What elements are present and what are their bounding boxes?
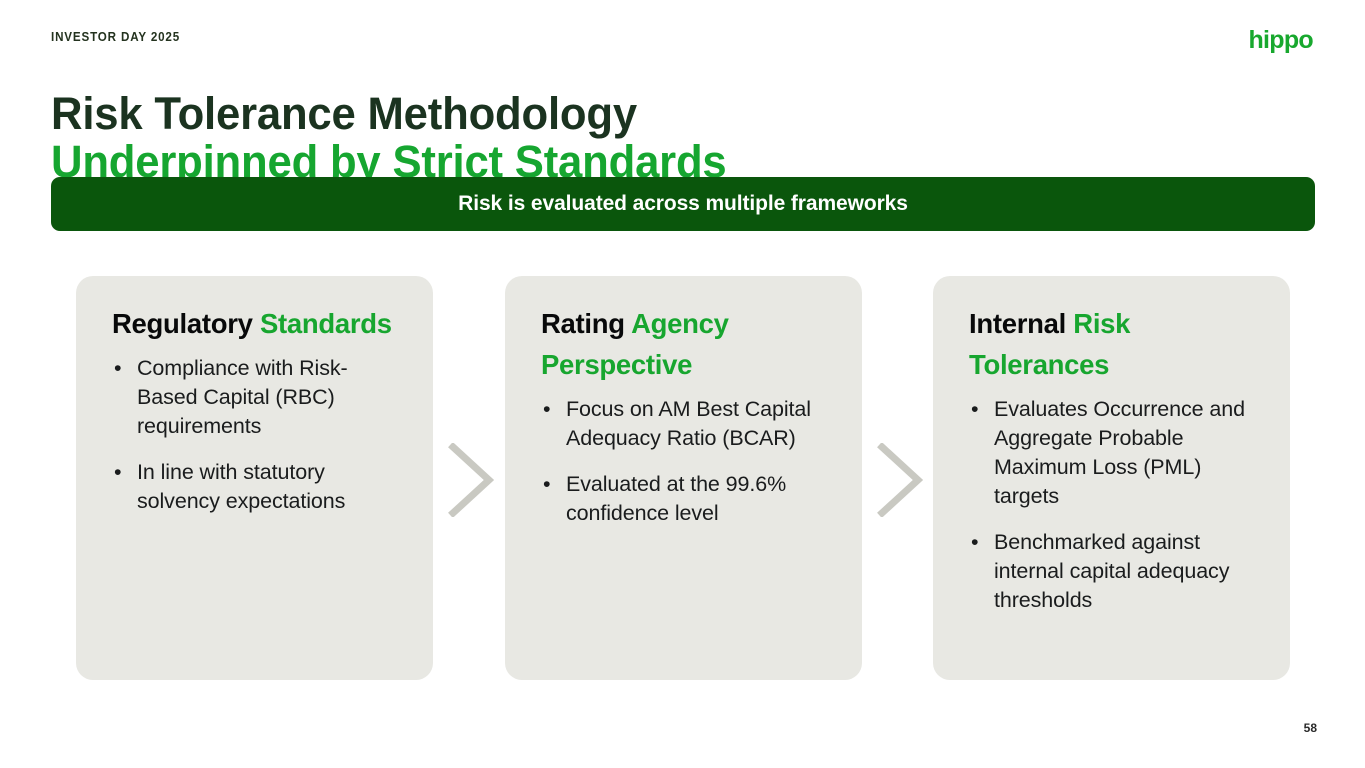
card-title-plain: Internal (969, 308, 1073, 339)
card-title-plain: Regulatory (112, 308, 260, 339)
card-regulatory-standards: Regulatory Standards Compliance with Ris… (76, 276, 433, 680)
card-title: Rating Agency Perspective (541, 303, 836, 385)
card-title-highlight: Standards (260, 308, 392, 339)
card-bullet-list: Evaluates Occurrence and Aggregate Proba… (969, 395, 1264, 615)
card-title: Internal Risk Tolerances (969, 303, 1264, 385)
list-item: In line with statutory solvency expectat… (112, 458, 407, 516)
list-item: Evaluates Occurrence and Aggregate Proba… (969, 395, 1264, 511)
card-rating-agency-perspective: Rating Agency Perspective Focus on AM Be… (505, 276, 862, 680)
frameworks-banner: Risk is evaluated across multiple framew… (51, 177, 1315, 231)
card-title: Regulatory Standards (112, 303, 407, 344)
list-item: Focus on AM Best Capital Adequacy Ratio … (541, 395, 836, 453)
eyebrow-label: INVESTOR DAY 2025 (51, 30, 180, 44)
chevron-right-icon (448, 443, 494, 517)
card-title-plain: Rating (541, 308, 631, 339)
page-number: 58 (1304, 721, 1317, 735)
card-internal-risk-tolerances: Internal Risk Tolerances Evaluates Occur… (933, 276, 1290, 680)
card-bullet-list: Compliance with Risk-Based Capital (RBC)… (112, 354, 407, 516)
frameworks-banner-text: Risk is evaluated across multiple framew… (458, 192, 908, 216)
list-item: Benchmarked against internal capital ade… (969, 528, 1264, 615)
card-bullet-list: Focus on AM Best Capital Adequacy Ratio … (541, 395, 836, 528)
list-item: Evaluated at the 99.6% confidence level (541, 470, 836, 528)
page-title-line-1: Risk Tolerance Methodology (51, 90, 924, 138)
page-title: Risk Tolerance Methodology Underpinned b… (51, 90, 924, 186)
chevron-right-icon (877, 443, 923, 517)
list-item: Compliance with Risk-Based Capital (RBC)… (112, 354, 407, 441)
hippo-logo: hippo (1248, 28, 1313, 53)
